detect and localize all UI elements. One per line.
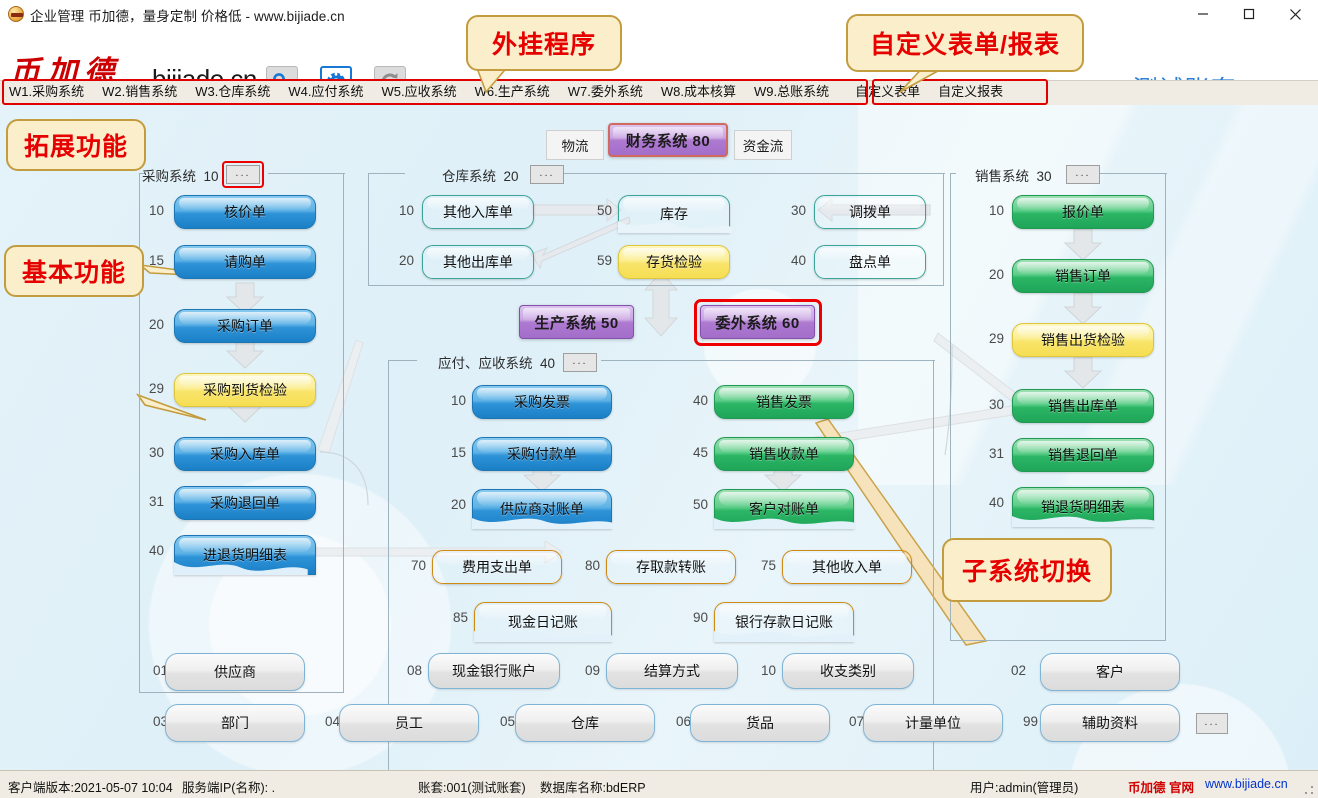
purchase-item-num: 29 — [138, 381, 164, 396]
payable-basic-num: 10 — [750, 663, 776, 678]
purchase-item-rukudan[interactable]: 采购入库单 — [174, 437, 316, 471]
sales-item-num: 29 — [978, 331, 1004, 346]
warehouse-item-num: 30 — [780, 203, 806, 218]
basic-num: 99 — [1012, 714, 1038, 729]
basic-num: 05 — [489, 714, 515, 729]
payable-item-num: 75 — [750, 558, 776, 573]
purchase-item-num: 20 — [138, 317, 164, 332]
basic-num: 02 — [1000, 663, 1026, 678]
payable-item-num: 40 — [682, 393, 708, 408]
menu-item-w1[interactable]: W1.采购系统 — [0, 80, 93, 104]
warehouse-item-num: 40 — [780, 253, 806, 268]
cashflow-label: 资金流 — [734, 130, 792, 160]
purchase-item-num: 40 — [138, 543, 164, 558]
status-client-version: 客户端版本:2021-05-07 10:04 — [8, 777, 173, 796]
basic-num: 06 — [665, 714, 691, 729]
finance-system-box[interactable]: 财务系统 80 — [608, 123, 728, 157]
purchase-item-qinggoudan[interactable]: 请购单 — [174, 245, 316, 279]
payable-item-num: 15 — [440, 445, 466, 460]
purchase-item-caigoudingdan[interactable]: 采购订单 — [174, 309, 316, 343]
menu-item-w2[interactable]: W2.销售系统 — [93, 80, 186, 104]
menu-item-custom-report[interactable]: 自定义报表 — [929, 80, 1012, 104]
callout-plugin-program: 外挂程序 — [466, 15, 622, 71]
payable-item-num: 90 — [682, 610, 708, 625]
payable-receivable-title: 应付、应收系统 40 — [438, 352, 555, 372]
payable-item-cunqukuanzhuanzhang[interactable]: 存取款转账 — [606, 550, 736, 584]
sales-item-num: 30 — [978, 397, 1004, 412]
purchase-item-num: 31 — [138, 494, 164, 509]
purchase-item-hejiadan[interactable]: 核价单 — [174, 195, 316, 229]
sales-item-tuihuidan[interactable]: 销售退回单 — [1012, 438, 1154, 472]
payable-item-shoukuandan[interactable]: 销售收款单 — [714, 437, 854, 471]
warehouse-item-num: 20 — [388, 253, 414, 268]
menu-item-w8[interactable]: W8.成本核算 — [652, 80, 745, 104]
sales-item-num: 10 — [978, 203, 1004, 218]
payable-item-num: 70 — [400, 558, 426, 573]
sales-item-chukudan[interactable]: 销售出库单 — [1012, 389, 1154, 423]
sales-item-num: 31 — [978, 446, 1004, 461]
purchase-item-num: 10 — [138, 203, 164, 218]
payable-more-button[interactable]: ... — [563, 353, 597, 372]
basic-num: 04 — [314, 714, 340, 729]
payable-item-fukuandan[interactable]: 采购付款单 — [472, 437, 612, 471]
basic-item-kehu[interactable]: 客户 — [1040, 653, 1180, 691]
basic-item-huopin[interactable]: 货品 — [690, 704, 830, 742]
payable-item-gongyingshangduizhangdan[interactable]: 供应商对账单 — [472, 489, 612, 529]
payable-basic-num: 09 — [574, 663, 600, 678]
warehouse-item-num: 50 — [586, 203, 612, 218]
close-icon[interactable] — [1272, 0, 1318, 28]
basic-item-gongyingshang[interactable]: 供应商 — [165, 653, 305, 691]
purchase-item-mingxibiao[interactable]: 进退货明细表 — [174, 535, 316, 575]
sales-item-num: 20 — [978, 267, 1004, 282]
window-title: 企业管理 币加德，量身定制 价格低 - www.bijiade.cn — [30, 5, 345, 25]
menu-item-custom-form[interactable]: 自定义表单 — [846, 80, 929, 104]
payable-basic-xianjinyinhangzhanghu[interactable]: 现金银行账户 — [428, 653, 560, 689]
flow-canvas: 物流 资金流 财务系统 80 采购系统 10 ... 10 核价单 15 请购单… — [0, 105, 1318, 770]
menu-item-list: W1.采购系统 W2.销售系统 W3.仓库系统 W4.应付系统 W5.应收系统 … — [0, 80, 1012, 104]
menu-item-w3[interactable]: W3.仓库系统 — [186, 80, 279, 104]
warehouse-item-diaobodan[interactable]: 调拨单 — [814, 195, 926, 229]
warehouse-system-title: 仓库系统 20 — [442, 165, 519, 185]
purchase-more-button[interactable]: ... — [226, 165, 260, 184]
basic-item-bumen[interactable]: 部门 — [165, 704, 305, 742]
outsourcing-system-box[interactable]: 委外系统 60 — [700, 305, 815, 339]
production-system-box[interactable]: 生产系统 50 — [519, 305, 634, 339]
basic-item-cangku[interactable]: 仓库 — [515, 704, 655, 742]
app-icon — [8, 6, 24, 22]
payable-item-num: 20 — [440, 497, 466, 512]
payable-basic-num: 08 — [396, 663, 422, 678]
menu-item-w7[interactable]: W7.委外系统 — [559, 80, 652, 104]
warehouse-item-cunhuojianyan[interactable]: 存货检验 — [618, 245, 730, 279]
maximize-icon[interactable] — [1226, 0, 1272, 28]
payable-item-feiyongzhichudan[interactable]: 费用支出单 — [432, 550, 562, 584]
menu-item-w5[interactable]: W5.应收系统 — [373, 80, 466, 104]
sales-system-title: 销售系统 30 — [975, 165, 1052, 185]
warehouse-item-pandiandan[interactable]: 盘点单 — [814, 245, 926, 279]
payable-item-xiaoshoufapiao[interactable]: 销售发票 — [714, 385, 854, 419]
status-account-book: 账套:001(测试账套) — [418, 777, 526, 796]
payable-item-yinhangcunkuanrijizhang[interactable]: 银行存款日记账 — [714, 602, 854, 642]
basic-item-jiliangdanwei[interactable]: 计量单位 — [863, 704, 1003, 742]
warehouse-item-kucun[interactable]: 库存 — [618, 195, 730, 233]
purchase-system-title: 采购系统 10 — [142, 165, 219, 185]
sales-item-xiaoshoudingdan[interactable]: 销售订单 — [1012, 259, 1154, 293]
status-brand-link[interactable]: 币加德 官网 — [1128, 777, 1194, 796]
payable-item-num: 45 — [682, 445, 708, 460]
window-controls — [1180, 0, 1318, 28]
warehouse-item-num: 10 — [388, 203, 414, 218]
purchase-item-num: 30 — [138, 445, 164, 460]
payable-item-qitashourudan[interactable]: 其他收入单 — [782, 550, 912, 584]
status-db-name: 数据库名称:bdERP — [540, 777, 646, 796]
sales-item-tuihuomingxibiao[interactable]: 销退货明细表 — [1012, 487, 1154, 527]
warehouse-more-button[interactable]: ... — [530, 165, 564, 184]
basic-num: 07 — [838, 714, 864, 729]
callout-custom-form-report: 自定义表单/报表 — [846, 14, 1084, 72]
sales-item-num: 40 — [978, 495, 1004, 510]
minimize-icon[interactable] — [1180, 0, 1226, 28]
payable-basic-shouzhileibie[interactable]: 收支类别 — [782, 653, 914, 689]
payable-item-num: 80 — [574, 558, 600, 573]
payable-item-num: 50 — [682, 497, 708, 512]
menu-item-w9[interactable]: W9.总账系统 — [745, 80, 838, 104]
payable-item-num: 10 — [440, 393, 466, 408]
warehouse-item-qitarukudan[interactable]: 其他入库单 — [422, 195, 534, 229]
warehouse-item-num: 59 — [586, 253, 612, 268]
resize-grip[interactable] — [1304, 785, 1314, 795]
logistics-flow-label: 物流 — [546, 130, 604, 160]
status-site-link[interactable]: www.bijiade.cn — [1205, 777, 1288, 791]
payable-item-kehuduizhangdan[interactable]: 客户对账单 — [714, 489, 854, 529]
menu-item-w6[interactable]: W6.生产系统 — [466, 80, 559, 104]
payable-item-num: 85 — [442, 610, 468, 625]
sales-item-chuhuojianyan[interactable]: 销售出货检验 — [1012, 323, 1154, 357]
callout-basic-function: 基本功能 — [4, 245, 144, 297]
callout-subsystem-switch: 子系统切换 — [942, 538, 1112, 602]
status-user: 用户:admin(管理员) — [970, 777, 1078, 796]
basic-item-yuangong[interactable]: 员工 — [339, 704, 479, 742]
brand-bar: 币加德 bijiade.cn — [0, 28, 1318, 80]
sales-item-baojiadan[interactable]: 报价单 — [1012, 195, 1154, 229]
payable-item-xianjinrijizhang[interactable]: 现金日记账 — [474, 602, 612, 642]
basics-more-button[interactable]: ... — [1196, 713, 1228, 734]
status-server-ip: 服务端IP(名称): . — [182, 777, 275, 796]
callout-extend-function: 拓展功能 — [6, 119, 146, 171]
warehouse-item-qitachukudan[interactable]: 其他出库单 — [422, 245, 534, 279]
status-bar: 客户端版本:2021-05-07 10:04 服务端IP(名称): . 账套:0… — [0, 770, 1318, 798]
erp-main-window: 企业管理 币加德，量身定制 价格低 - www.bijiade.cn 币加德 b… — [0, 0, 1318, 798]
purchase-item-tuihuidan[interactable]: 采购退回单 — [174, 486, 316, 520]
payable-basic-jiesuanfangshi[interactable]: 结算方式 — [606, 653, 738, 689]
sales-more-button[interactable]: ... — [1066, 165, 1100, 184]
menu-item-w4[interactable]: W4.应付系统 — [279, 80, 372, 104]
basic-item-fuzhuziliao[interactable]: 辅助资料 — [1040, 704, 1180, 742]
purchase-item-daohuojianyan[interactable]: 采购到货检验 — [174, 373, 316, 407]
payable-item-caigoufapiao[interactable]: 采购发票 — [472, 385, 612, 419]
window-titlebar: 企业管理 币加德，量身定制 价格低 - www.bijiade.cn — [0, 0, 1318, 28]
